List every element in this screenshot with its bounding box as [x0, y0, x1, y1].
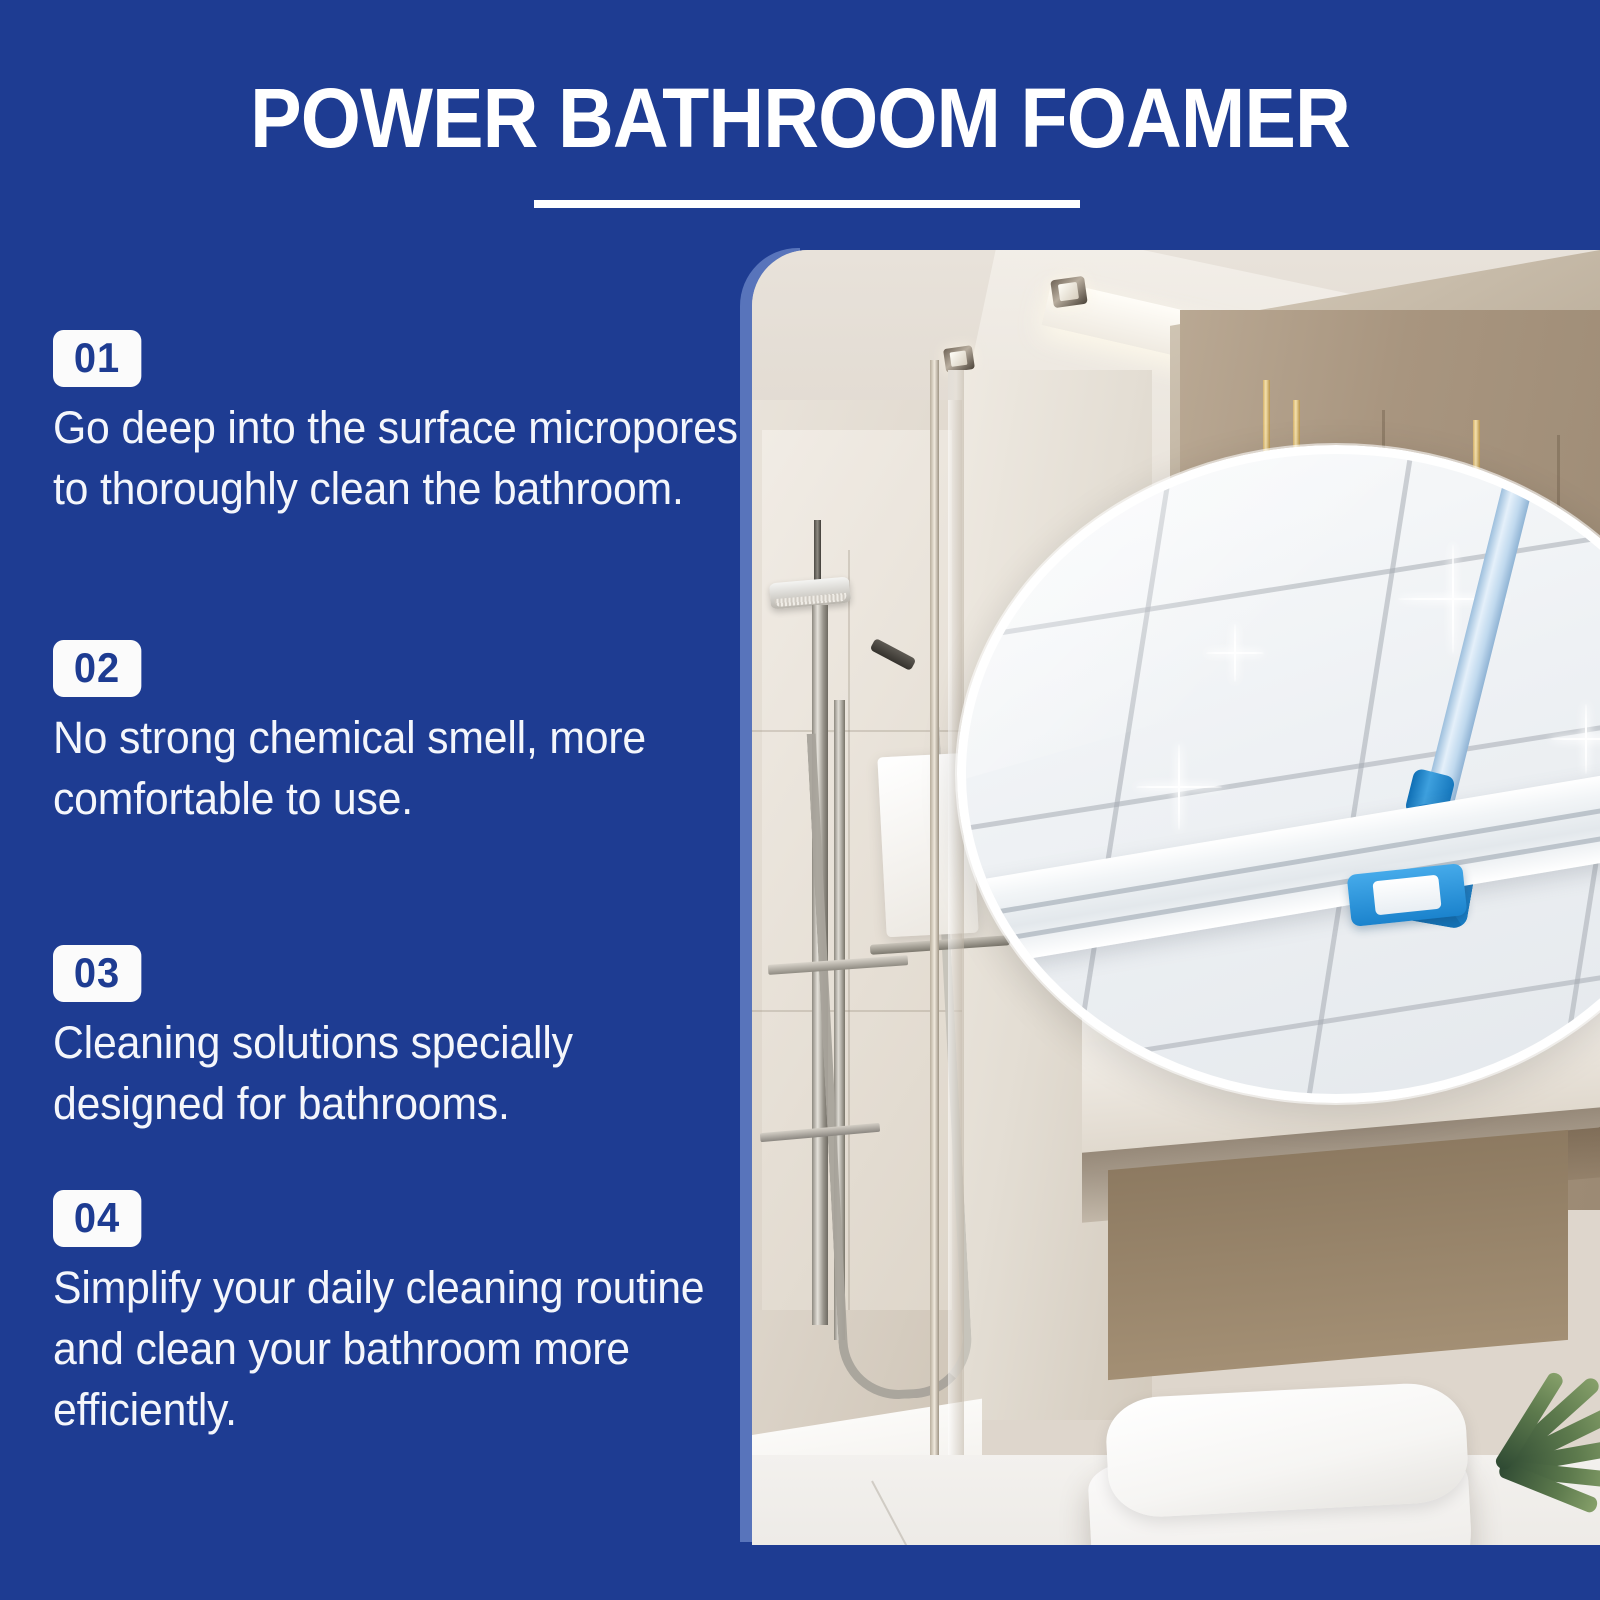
feature-number-badge: 02: [53, 640, 141, 697]
feature-text: Cleaning solutions specially designed fo…: [53, 1012, 745, 1134]
shower-door-frame: [930, 360, 939, 1510]
feature-text: Go deep into the surface micropores to t…: [53, 397, 745, 519]
title-underline-rule: [534, 200, 1080, 208]
feature-number-badge: 03: [53, 945, 141, 1002]
shower-glass-door: [948, 370, 964, 1500]
feature-item-02: 02 No strong chemical smell, more comfor…: [53, 640, 743, 829]
page-title: POWER BATHROOM FOAMER: [64, 76, 1536, 160]
feature-item-04: 04 Simplify your daily cleaning routine …: [53, 1190, 743, 1440]
feature-item-01: 01 Go deep into the surface micropores t…: [53, 330, 743, 519]
feature-number-badge: 01: [53, 330, 141, 387]
sparkle-icon: [1206, 624, 1264, 682]
sparkle-icon: [1136, 744, 1222, 830]
feature-number-badge: 04: [53, 1190, 141, 1247]
toilet-seat-lid: [1104, 1381, 1470, 1520]
mop-clip: [1372, 875, 1441, 916]
bathroom-photo-panel: [752, 250, 1600, 1545]
decorative-plant: [1440, 1340, 1600, 1545]
infographic-canvas: POWER BATHROOM FOAMER 01 Go deep into th…: [0, 0, 1600, 1600]
feature-text: No strong chemical smell, more comfortab…: [53, 707, 745, 829]
bathroom-photo: [752, 250, 1600, 1545]
feature-item-03: 03 Cleaning solutions specially designed…: [53, 945, 743, 1134]
sparkle-icon: [1551, 704, 1600, 774]
ceiling-spotlight-icon: [1050, 276, 1088, 308]
ceiling-spotlight-icon: [943, 345, 975, 373]
feature-text: Simplify your daily cleaning routine and…: [53, 1257, 745, 1440]
